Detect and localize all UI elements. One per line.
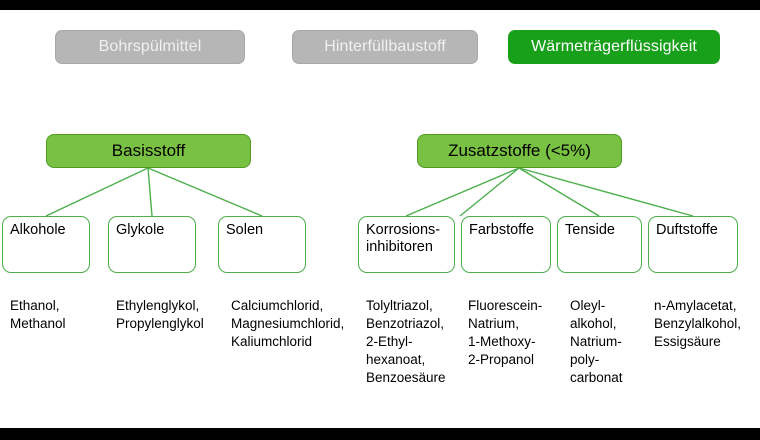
examples-korrosionsinhibitoren: Tolyltriazol, Benzotriazol, 2-Ethyl- hex…: [366, 297, 466, 387]
examples-duftstoffe: n-Amylacetat, Benzylalkohol, Essigsäure: [654, 297, 759, 351]
diagram-canvas: Bohrspülmittel Hinterfüllbaustoff Wärmet…: [0, 0, 760, 440]
letterbox-bottom: [0, 428, 760, 440]
connector-zusatzstoffe-duftstoffe: [519, 168, 693, 216]
node-label: Duftstoffe: [656, 222, 718, 238]
letterbox-top: [0, 0, 760, 10]
examples-solen: Calciumchlorid, Magnesiumchlorid, Kalium…: [231, 297, 356, 351]
connector-zusatzstoffe-korrosionsinhibitoren: [406, 168, 519, 216]
examples-farbstoffe: Fluorescein- Natrium, 1-Methoxy- 2-Propa…: [468, 297, 563, 369]
examples-glykole: Ethylenglykol, Propylenglykol: [116, 297, 231, 333]
node-farbstoffe[interactable]: Farbstoffe: [461, 216, 551, 273]
connector-basisstoff-solen: [148, 168, 262, 216]
connector-zusatzstoffe-tenside: [519, 168, 599, 216]
examples-tenside: Oleyl- alkohol, Natrium- poly- carbonat: [570, 297, 645, 387]
examples-alkohole: Ethanol, Methanol: [10, 297, 120, 333]
node-duftstoffe[interactable]: Duftstoffe: [648, 216, 738, 273]
node-tenside[interactable]: Tenside: [557, 216, 642, 273]
node-label: Basisstoff: [112, 141, 185, 161]
node-label: Solen: [226, 222, 263, 238]
node-zusatzstoffe[interactable]: Zusatzstoffe (<5%): [417, 134, 622, 168]
connector-basisstoff-alkohole: [46, 168, 148, 216]
node-solen[interactable]: Solen: [218, 216, 306, 273]
node-korrosionsinhibitoren[interactable]: Korrosions- inhibitoren: [358, 216, 455, 273]
node-label: Korrosions- inhibitoren: [366, 222, 440, 255]
tab-label: Bohrspülmittel: [99, 38, 202, 56]
connector-basisstoff-glykole: [148, 168, 152, 216]
tab-label: Wärmeträgerflüssigkeit: [531, 38, 697, 56]
node-label: Tenside: [565, 222, 615, 238]
tab-label: Hinterfüllbaustoff: [324, 38, 446, 56]
tab-bohrspuelmittel[interactable]: Bohrspülmittel: [55, 30, 245, 64]
node-label: Alkohole: [10, 222, 66, 238]
tab-waermetraegerfluessigkeit[interactable]: Wärmeträgerflüssigkeit: [508, 30, 720, 64]
connector-zusatzstoffe-farbstoffe: [460, 168, 519, 216]
node-label: Farbstoffe: [469, 222, 534, 238]
node-basisstoff[interactable]: Basisstoff: [46, 134, 251, 168]
node-glykole[interactable]: Glykole: [108, 216, 196, 273]
tab-hinterfuellbaustoff[interactable]: Hinterfüllbaustoff: [292, 30, 478, 64]
node-alkohole[interactable]: Alkohole: [2, 216, 90, 273]
node-label: Glykole: [116, 222, 164, 238]
node-label: Zusatzstoffe (<5%): [448, 141, 591, 161]
